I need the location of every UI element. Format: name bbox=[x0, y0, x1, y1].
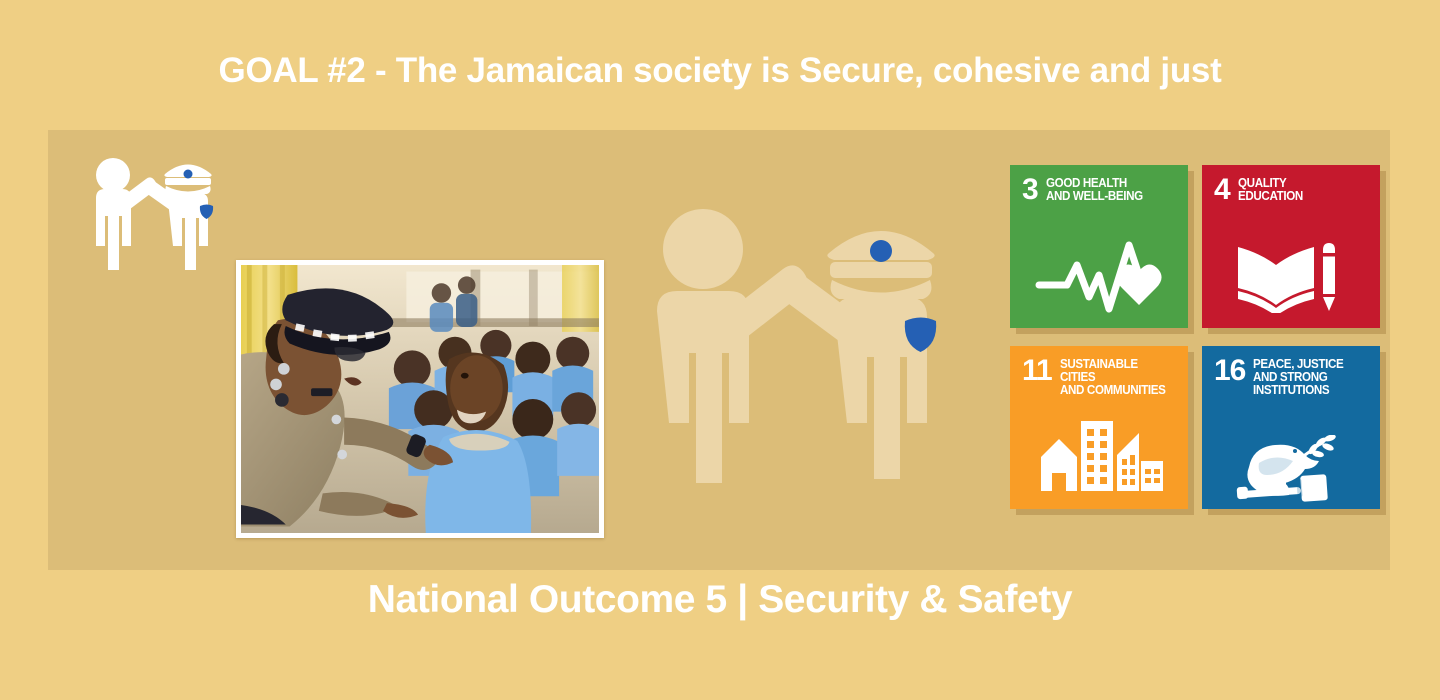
sdg-tile-4[interactable]: 4 QUALITY EDUCATION bbox=[1202, 165, 1380, 328]
sdg-tile-3-label: GOOD HEALTH AND WELL-BEING bbox=[1046, 177, 1143, 203]
dove-gavel-icon bbox=[1202, 435, 1380, 505]
content-panel: 3 GOOD HEALTH AND WELL-BEING 4 QUALITY E… bbox=[48, 130, 1390, 570]
outcome-title: National Outcome 5 | Security & Safety bbox=[0, 578, 1440, 622]
sdg-tile-11-label: SUSTAINABLE CITIES AND COMMUNITIES bbox=[1060, 358, 1170, 397]
sdg-goal-grid: 3 GOOD HEALTH AND WELL-BEING 4 QUALITY E… bbox=[1010, 165, 1380, 533]
citizen-police-highfive-icon bbox=[78, 148, 238, 270]
sdg-tile-4-label: QUALITY EDUCATION bbox=[1238, 177, 1303, 203]
open-book-pencil-icon bbox=[1202, 226, 1380, 322]
citizen-police-highfive-watermark-icon bbox=[633, 195, 978, 495]
police-officer-with-students-photo bbox=[236, 260, 604, 538]
sdg-tile-4-header: 4 QUALITY EDUCATION bbox=[1202, 165, 1380, 203]
heartbeat-heart-icon bbox=[1010, 226, 1188, 322]
sdg-tile-3-header: 3 GOOD HEALTH AND WELL-BEING bbox=[1010, 165, 1188, 203]
sdg-tile-3-number: 3 bbox=[1022, 177, 1038, 203]
sdg-tile-16-number: 16 bbox=[1214, 358, 1245, 384]
sdg-tile-16-header: 16 PEACE, JUSTICE AND STRONG INSTITUTION… bbox=[1202, 346, 1380, 397]
sdg-tile-4-number: 4 bbox=[1214, 177, 1230, 203]
sdg-tile-16[interactable]: 16 PEACE, JUSTICE AND STRONG INSTITUTION… bbox=[1202, 346, 1380, 509]
page-title: GOAL #2 - The Jamaican society is Secure… bbox=[0, 52, 1440, 91]
city-buildings-icon bbox=[1010, 407, 1188, 503]
sdg-tile-11-header: 11 SUSTAINABLE CITIES AND COMMUNITIES bbox=[1010, 346, 1188, 397]
sdg-tile-16-label: PEACE, JUSTICE AND STRONG INSTITUTIONS bbox=[1253, 358, 1343, 397]
sdg-tile-11[interactable]: 11 SUSTAINABLE CITIES AND COMMUNITIES bbox=[1010, 346, 1188, 509]
sdg-tile-3[interactable]: 3 GOOD HEALTH AND WELL-BEING bbox=[1010, 165, 1188, 328]
sdg-tile-11-number: 11 bbox=[1022, 358, 1052, 384]
